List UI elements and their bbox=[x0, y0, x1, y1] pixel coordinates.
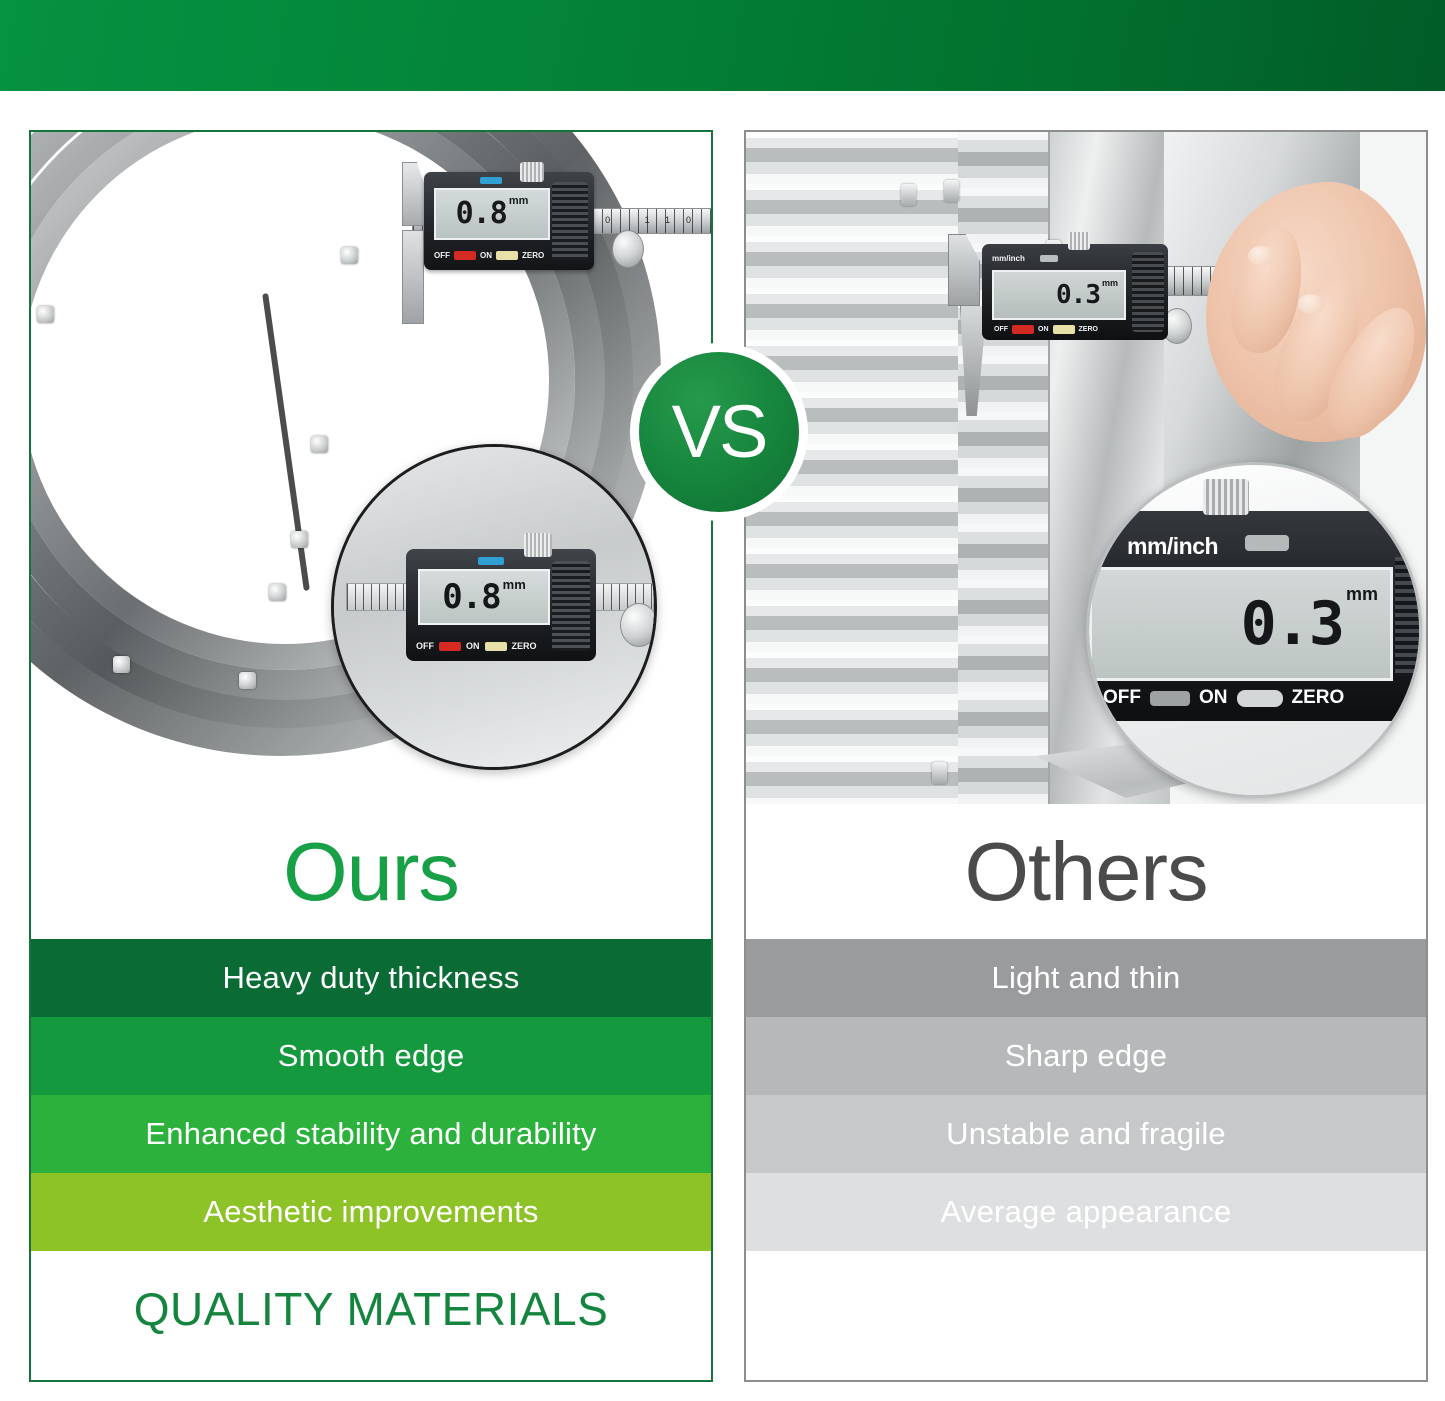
thin-panel-image: mm/inch 0.3 mm OFF ON ZERO bbox=[746, 132, 1426, 804]
caliper-unit: mm bbox=[1102, 278, 1118, 288]
caliper-grip-texture bbox=[1132, 252, 1164, 332]
bolt bbox=[269, 584, 286, 601]
mm-inch-button bbox=[1245, 535, 1289, 551]
off-label: OFF bbox=[994, 326, 1008, 333]
on-label: ON bbox=[1038, 326, 1049, 333]
quality-materials-label: QUALITY MATERIALS bbox=[134, 1282, 609, 1336]
bolt bbox=[932, 762, 947, 784]
ours-product-photo: 90 100 110 0.8 mm OFF ON bbox=[31, 132, 711, 804]
grip-texture bbox=[552, 561, 590, 651]
magnifier-inset-ours: 0.8 mm OFF ON ZERO bbox=[331, 444, 657, 770]
zero-label: ZERO bbox=[1292, 687, 1345, 709]
bolt bbox=[37, 306, 54, 323]
bolt bbox=[291, 531, 308, 548]
off-label: OFF bbox=[434, 251, 450, 260]
digital-caliper-others: mm/inch 0.3 mm OFF ON ZERO bbox=[948, 232, 1378, 402]
digital-caliper-ours: 90 100 110 0.8 mm OFF ON bbox=[376, 158, 706, 278]
caliper-body: 0.8 mm OFF ON ZERO bbox=[424, 172, 594, 270]
power-switch bbox=[454, 251, 476, 260]
bolt bbox=[901, 184, 916, 206]
caliper-body: mm/inch 0.3 mm OFF ON ZERO bbox=[982, 244, 1168, 340]
on-label: ON bbox=[1199, 687, 1228, 709]
caliper-reading: 0.3 bbox=[1056, 282, 1100, 308]
others-panel: mm/inch 0.3 mm OFF ON ZERO bbox=[744, 130, 1428, 1382]
grip-texture bbox=[1395, 557, 1422, 677]
magnified-caliper-body: mm/inch 0.3 mm OFF ON ZERO bbox=[1086, 511, 1422, 721]
zero-switch bbox=[485, 642, 507, 651]
magnifier-inset-others: mm/inch 0.3 mm OFF ON ZERO bbox=[1086, 462, 1422, 798]
bolt bbox=[113, 656, 130, 673]
top-green-banner bbox=[0, 0, 1445, 91]
power-switch bbox=[439, 642, 461, 651]
caliper-thumbwheel bbox=[612, 230, 644, 268]
ours-feature-row-2: Smooth edge bbox=[31, 1017, 711, 1095]
zero-switch bbox=[1237, 690, 1283, 707]
zero-label: ZERO bbox=[522, 251, 544, 260]
bolt bbox=[239, 672, 256, 689]
off-label: OFF bbox=[1103, 687, 1141, 709]
feature-label: Average appearance bbox=[941, 1194, 1232, 1230]
zero-label: ZERO bbox=[512, 641, 537, 651]
caliper-blue-button bbox=[480, 177, 502, 184]
others-product-photo: mm/inch 0.3 mm OFF ON ZERO bbox=[746, 132, 1426, 804]
magnified-caliper-body: 0.8 mm OFF ON ZERO bbox=[406, 549, 596, 661]
bolt bbox=[944, 180, 959, 202]
blue-button bbox=[478, 557, 504, 565]
on-label: ON bbox=[480, 251, 492, 260]
ours-feature-row-3: Enhanced stability and durability bbox=[31, 1095, 711, 1173]
magnified-button-row: OFF ON ZERO bbox=[416, 641, 537, 651]
caliper-button-row: OFF ON ZERO bbox=[994, 325, 1098, 334]
zero-switch bbox=[1053, 325, 1075, 334]
others-feature-list: Light and thin Sharp edge Unstable and f… bbox=[746, 939, 1426, 1251]
magnified-button-row: OFF ON ZERO bbox=[1103, 687, 1344, 709]
feature-label: Unstable and fragile bbox=[946, 1116, 1226, 1152]
magnified-unit: mm bbox=[503, 577, 526, 592]
fingernail bbox=[1298, 294, 1324, 314]
caliper-lcd-display: 0.8 mm bbox=[434, 188, 550, 240]
comparison-stage: 90 100 110 0.8 mm OFF ON bbox=[0, 91, 1445, 1401]
caliper-button-row: OFF ON ZERO bbox=[434, 248, 584, 262]
zero-switch bbox=[496, 251, 518, 260]
ours-footer-area: QUALITY MATERIALS bbox=[31, 1251, 711, 1366]
ours-heading: Ours bbox=[283, 830, 459, 913]
others-feature-row-4: Average appearance bbox=[746, 1173, 1426, 1251]
others-feature-row-1: Light and thin bbox=[746, 939, 1426, 1017]
others-heading: Others bbox=[964, 830, 1207, 913]
on-label: ON bbox=[466, 641, 480, 651]
ours-feature-row-1: Heavy duty thickness bbox=[31, 939, 711, 1017]
caliper-upper-jaw bbox=[948, 234, 980, 306]
others-heading-area: Others bbox=[746, 804, 1426, 939]
feature-label: Heavy duty thickness bbox=[223, 960, 520, 996]
magnified-reading: 0.3 bbox=[1241, 594, 1343, 654]
lock-screw-icon bbox=[524, 533, 552, 557]
magnified-lcd-display: 0.8 mm bbox=[418, 569, 550, 625]
magnified-reading: 0.8 bbox=[442, 580, 500, 614]
caliper-lower-jaw bbox=[402, 230, 424, 324]
caliper-lcd-display: 0.3 mm bbox=[992, 270, 1126, 320]
vs-label: VS bbox=[672, 395, 767, 469]
ours-panel: 90 100 110 0.8 mm OFF ON bbox=[29, 130, 713, 1382]
off-label: OFF bbox=[416, 641, 434, 651]
caliper-upper-jaw bbox=[402, 162, 426, 226]
vs-badge: VS bbox=[639, 352, 799, 512]
feature-label: Enhanced stability and durability bbox=[145, 1116, 596, 1152]
power-switch bbox=[1012, 325, 1034, 334]
others-feature-row-2: Sharp edge bbox=[746, 1017, 1426, 1095]
bolt bbox=[341, 247, 358, 264]
zero-label: ZERO bbox=[1079, 326, 1098, 333]
fingernail bbox=[1248, 246, 1274, 266]
caliper-lock-screw-icon bbox=[1068, 232, 1090, 250]
others-feature-row-3: Unstable and fragile bbox=[746, 1095, 1426, 1173]
ours-heading-area: Ours bbox=[31, 804, 711, 939]
ours-feature-row-4: Aesthetic improvements bbox=[31, 1173, 711, 1251]
caliper-reading: 0.8 bbox=[456, 199, 507, 229]
power-switch bbox=[1150, 691, 1190, 706]
mm-inch-label: mm/inch bbox=[1127, 533, 1218, 560]
ours-feature-list: Heavy duty thickness Smooth edge Enhance… bbox=[31, 939, 711, 1251]
others-footer-blank bbox=[746, 1251, 1426, 1366]
mm-inch-button bbox=[1040, 255, 1058, 262]
lock-screw-icon bbox=[1203, 479, 1249, 515]
magnified-caliper: 0.8 mm OFF ON ZERO bbox=[352, 525, 642, 705]
feature-label: Sharp edge bbox=[1005, 1038, 1167, 1074]
caliper-lock-screw-icon bbox=[520, 162, 544, 182]
bolt bbox=[311, 436, 328, 453]
feature-label: Smooth edge bbox=[278, 1038, 465, 1074]
magnified-lcd-display: 0.3 mm bbox=[1089, 567, 1393, 681]
mm-inch-label: mm/inch bbox=[992, 254, 1025, 263]
magnified-thumbwheel bbox=[620, 603, 657, 647]
feature-label: Light and thin bbox=[992, 960, 1181, 996]
magnified-unit: mm bbox=[1346, 584, 1378, 605]
caliper-unit: mm bbox=[509, 195, 529, 207]
feature-label: Aesthetic improvements bbox=[203, 1194, 538, 1230]
